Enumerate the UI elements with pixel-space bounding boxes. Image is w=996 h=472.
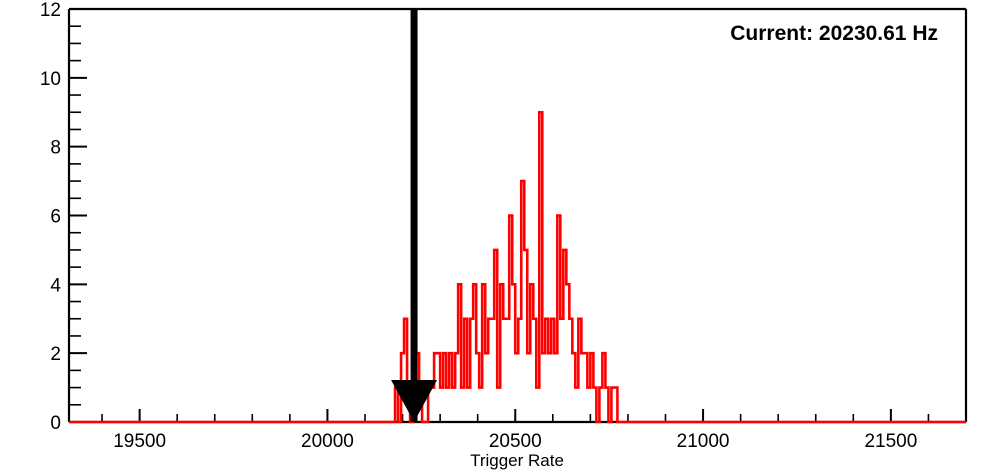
root-canvas: 024681012 1950020000205002100021500 Trig… [0,0,996,472]
y-tick-label: 12 [40,0,61,21]
y-tick-label: 2 [50,344,61,365]
y-tick-label: 10 [40,69,61,90]
x-tick-label: 20500 [489,431,542,452]
y-tick-label: 0 [50,413,61,434]
y-tick-label: 6 [50,207,61,228]
plot-background [0,0,996,472]
y-tick-label: 8 [50,138,61,159]
x-tick-label: 21000 [677,431,730,452]
y-tick-label: 4 [50,275,61,296]
histogram-plot: 024681012 1950020000205002100021500 Trig… [0,0,996,472]
x-tick-label: 19500 [113,431,166,452]
x-tick-label: 21500 [864,431,917,452]
x-axis-title: Trigger Rate [470,451,564,470]
x-tick-label: 20000 [301,431,354,452]
page-title: Current: 20230.61 Hz [730,22,938,45]
